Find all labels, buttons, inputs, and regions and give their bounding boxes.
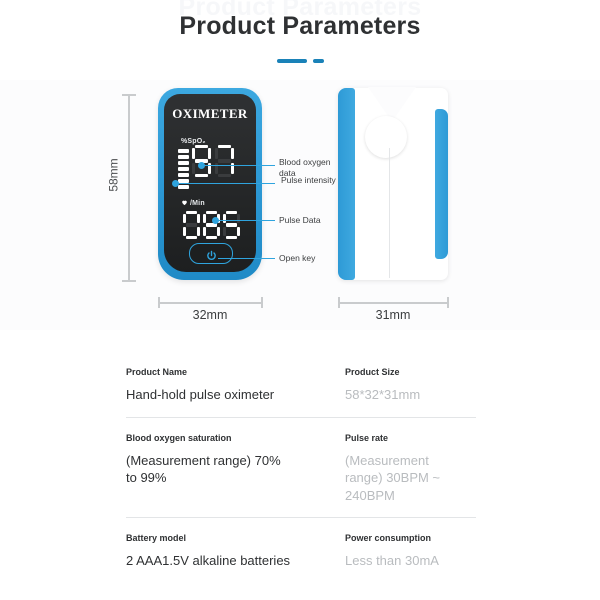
device-side-view — [338, 88, 448, 280]
spo2-value-display — [192, 145, 234, 177]
height-dimension-label: 58mm — [107, 158, 121, 191]
spec-value: Less than 30mA — [345, 552, 466, 570]
title-divider — [0, 59, 600, 63]
height-dimension-cap-bottom — [122, 280, 136, 282]
side-seam-line — [389, 148, 390, 278]
spec-value: (Measurement range) 70% to 99% — [126, 452, 291, 487]
spec-key: Pulse rate — [345, 432, 466, 445]
callout-line-blood-oxygen — [201, 165, 275, 166]
spec-value: 2 AAA1.5V alkaline batteries — [126, 552, 291, 570]
spo2-label: %SpO₂ — [181, 138, 206, 145]
spec-key: Battery model — [126, 532, 291, 545]
side-blue-right-edge — [435, 109, 448, 259]
seven-segment-digit — [192, 145, 211, 177]
divider-dash-short — [313, 59, 324, 63]
power-icon — [206, 248, 217, 259]
pulse-bar — [178, 185, 189, 189]
spec-value: 58*32*31mm — [345, 386, 466, 404]
side-width-cap-right — [447, 297, 449, 308]
spec-cell-right: Power consumption Less than 30mA — [301, 532, 476, 570]
side-blue-left-edge — [338, 88, 355, 280]
spec-key: Product Name — [126, 366, 291, 379]
callout-line-open-key — [218, 258, 275, 259]
front-width-dimension-line — [158, 302, 262, 304]
spec-key: Power consumption — [345, 532, 466, 545]
seven-segment-digit — [203, 211, 220, 239]
side-width-cap-left — [338, 297, 340, 308]
pulse-rate-unit: /Min — [190, 200, 205, 207]
pulse-bar — [178, 173, 189, 177]
spec-cell-left: Product Name Hand-hold pulse oximeter — [126, 366, 301, 404]
pulse-bar — [178, 161, 189, 165]
spec-value: Hand-hold pulse oximeter — [126, 386, 291, 404]
side-hinge-circle — [365, 116, 407, 158]
spec-cell-left: Battery model 2 AAA1.5V alkaline batteri… — [126, 532, 301, 570]
pulse-bar — [178, 167, 189, 171]
table-row: Product Name Hand-hold pulse oximeter Pr… — [126, 352, 476, 418]
callout-line-pulse-data — [215, 220, 275, 221]
height-dimension-line — [128, 94, 130, 282]
callout-line-pulse-intensity — [175, 183, 275, 184]
spec-cell-right: Product Size 58*32*31mm — [301, 366, 476, 404]
front-width-cap-left — [158, 297, 160, 308]
specification-table: Product Name Hand-hold pulse oximeter Pr… — [126, 352, 476, 583]
front-width-dimension-label: 32mm — [158, 308, 262, 322]
pulse-rate-label: /Min — [181, 200, 205, 207]
divider-dash-long — [277, 59, 307, 63]
front-width-cap-right — [261, 297, 263, 308]
spec-cell-right: Pulse rate (Measurement range) 30BPM ~ 2… — [301, 432, 476, 505]
height-dimension-cap-top — [122, 94, 136, 96]
pulse-bar — [178, 149, 189, 153]
pulse-bar — [178, 155, 189, 159]
spec-cell-left: Blood oxygen saturation (Measurement ran… — [126, 432, 301, 505]
seven-segment-digit — [223, 211, 240, 239]
heart-icon — [181, 199, 188, 206]
product-diagram: 58mm OXIMETER %SpO₂ — [0, 80, 600, 330]
table-row: Battery model 2 AAA1.5V alkaline batteri… — [126, 518, 476, 583]
seven-segment-digit — [215, 145, 234, 177]
page-title: Product Parameters — [0, 12, 600, 41]
pulse-value-display — [183, 211, 240, 239]
spec-key: Blood oxygen saturation — [126, 432, 291, 445]
spec-value: (Measurement range) 30BPM ~ 240BPM — [345, 452, 466, 505]
device-brand-label: OXIMETER — [164, 106, 256, 122]
power-button[interactable] — [189, 243, 233, 264]
side-width-dimension-label: 31mm — [338, 308, 448, 322]
seven-segment-digit — [183, 211, 200, 239]
side-width-dimension-line — [338, 302, 448, 304]
spec-key: Product Size — [345, 366, 466, 379]
table-row: Blood oxygen saturation (Measurement ran… — [126, 418, 476, 519]
callout-label-pulse-intensity: Pulse intensity — [281, 175, 341, 186]
